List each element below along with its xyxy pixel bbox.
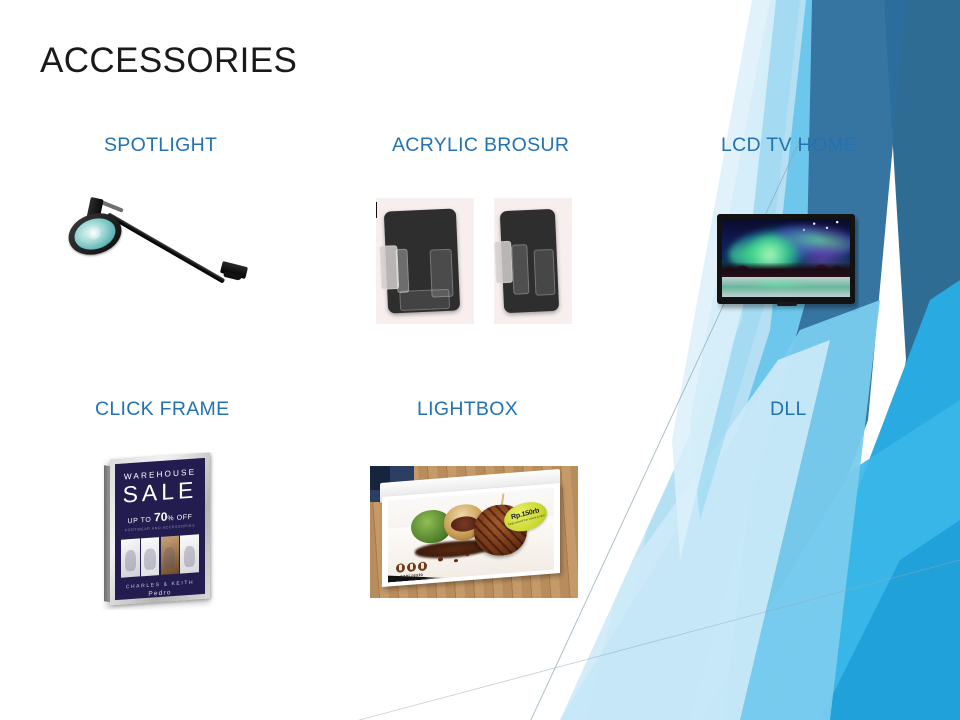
decor-shape-white-notch — [0, 0, 770, 720]
logo-dot-icon — [396, 563, 405, 573]
decor-shape-deep-right — [846, 0, 960, 720]
decor-shape-bright-lower — [770, 280, 960, 720]
acrylic-photo-left — [376, 198, 474, 324]
acrylic-photo-edge — [376, 202, 377, 218]
spotlight-photo — [60, 190, 260, 310]
poster-brand: CHARLES & KEITH — [126, 580, 194, 591]
acrylic-bottom-pocket — [399, 289, 450, 311]
tv-bezel — [717, 214, 855, 304]
logo-dot-icon — [418, 561, 427, 571]
decor-shape-steel-upper — [724, 0, 906, 720]
decor-shape-bright-lower3 — [820, 520, 960, 720]
poster-offer-suffix: % OFF — [167, 514, 192, 523]
item-label-click-frame: CLICK FRAME — [95, 398, 229, 420]
lightbox-brand-logo: sapi resto — [396, 561, 427, 578]
item-label-spotlight: SPOTLIGHT — [104, 134, 217, 156]
acrylic-holder-body — [500, 209, 559, 313]
acrylic-photo-right — [494, 198, 572, 324]
lcd-tv-photo — [717, 214, 859, 314]
item-label-lightbox: LIGHTBOX — [417, 398, 518, 420]
item-label-dll: DLL — [770, 398, 807, 420]
lightbox-sauce-drop — [438, 557, 443, 561]
tv-stand — [777, 302, 797, 306]
decor-shape-pale-wedge — [586, 0, 806, 720]
poster-product-photo — [161, 536, 179, 575]
click-frame-aluminium-frame: WAREHOUSE SALE UP TO 70% OFF FOOTWEAR AN… — [110, 453, 210, 606]
lightbox-graphic: Rp.150rb harga spesial hari selasa & rab… — [388, 487, 554, 582]
acrylic-right-panel — [534, 249, 556, 296]
acrylic-brochure-holder-photo — [376, 198, 572, 324]
decorative-background — [0, 0, 960, 720]
aurora-water-reflection — [722, 277, 850, 297]
item-label-lcd-tv-home: LCD TV HOME — [721, 134, 857, 156]
acrylic-side-lip — [494, 241, 513, 284]
poster-offer-value: 70 — [154, 509, 167, 524]
decor-shape-bright-lower2 — [700, 400, 960, 720]
acrylic-holder-body — [384, 208, 460, 313]
click-frame-poster-photo: WAREHOUSE SALE UP TO 70% OFF FOOTWEAR AN… — [98, 452, 222, 610]
tv-screen — [722, 219, 850, 297]
poster-store: Pedro — [148, 589, 171, 598]
lightbox-photo: Rp.150rb harga spesial hari selasa & rab… — [370, 466, 578, 598]
spotlight-track-adapter — [220, 261, 248, 279]
poster-product-strip — [121, 534, 198, 577]
logo-dot-icon — [407, 562, 416, 572]
spotlight-arm — [107, 212, 226, 283]
item-label-acrylic-brosur: ACRYLIC BROSUR — [392, 134, 569, 156]
acrylic-mid-panel — [511, 244, 529, 295]
poster-product-photo — [141, 537, 159, 576]
slide-canvas: ACCESSORIES SPOTLIGHT ACRYLIC BROSUR LCD… — [0, 0, 960, 720]
poster-product-photo — [121, 538, 139, 577]
page-title: ACCESSORIES — [40, 39, 297, 83]
poster-product-photo — [180, 534, 198, 573]
poster-offer-prefix: UP TO — [127, 516, 154, 525]
lightbox-body: Rp.150rb harga spesial hari selasa & rab… — [382, 483, 560, 587]
acrylic-mid-panel — [395, 249, 409, 293]
poster-headline-sale: SALE — [123, 477, 198, 506]
decor-shape-sky-lower — [560, 300, 880, 720]
decor-shape-sky-upper — [612, 0, 812, 720]
click-frame-poster: WAREHOUSE SALE UP TO 70% OFF FOOTWEAR AN… — [115, 458, 205, 600]
